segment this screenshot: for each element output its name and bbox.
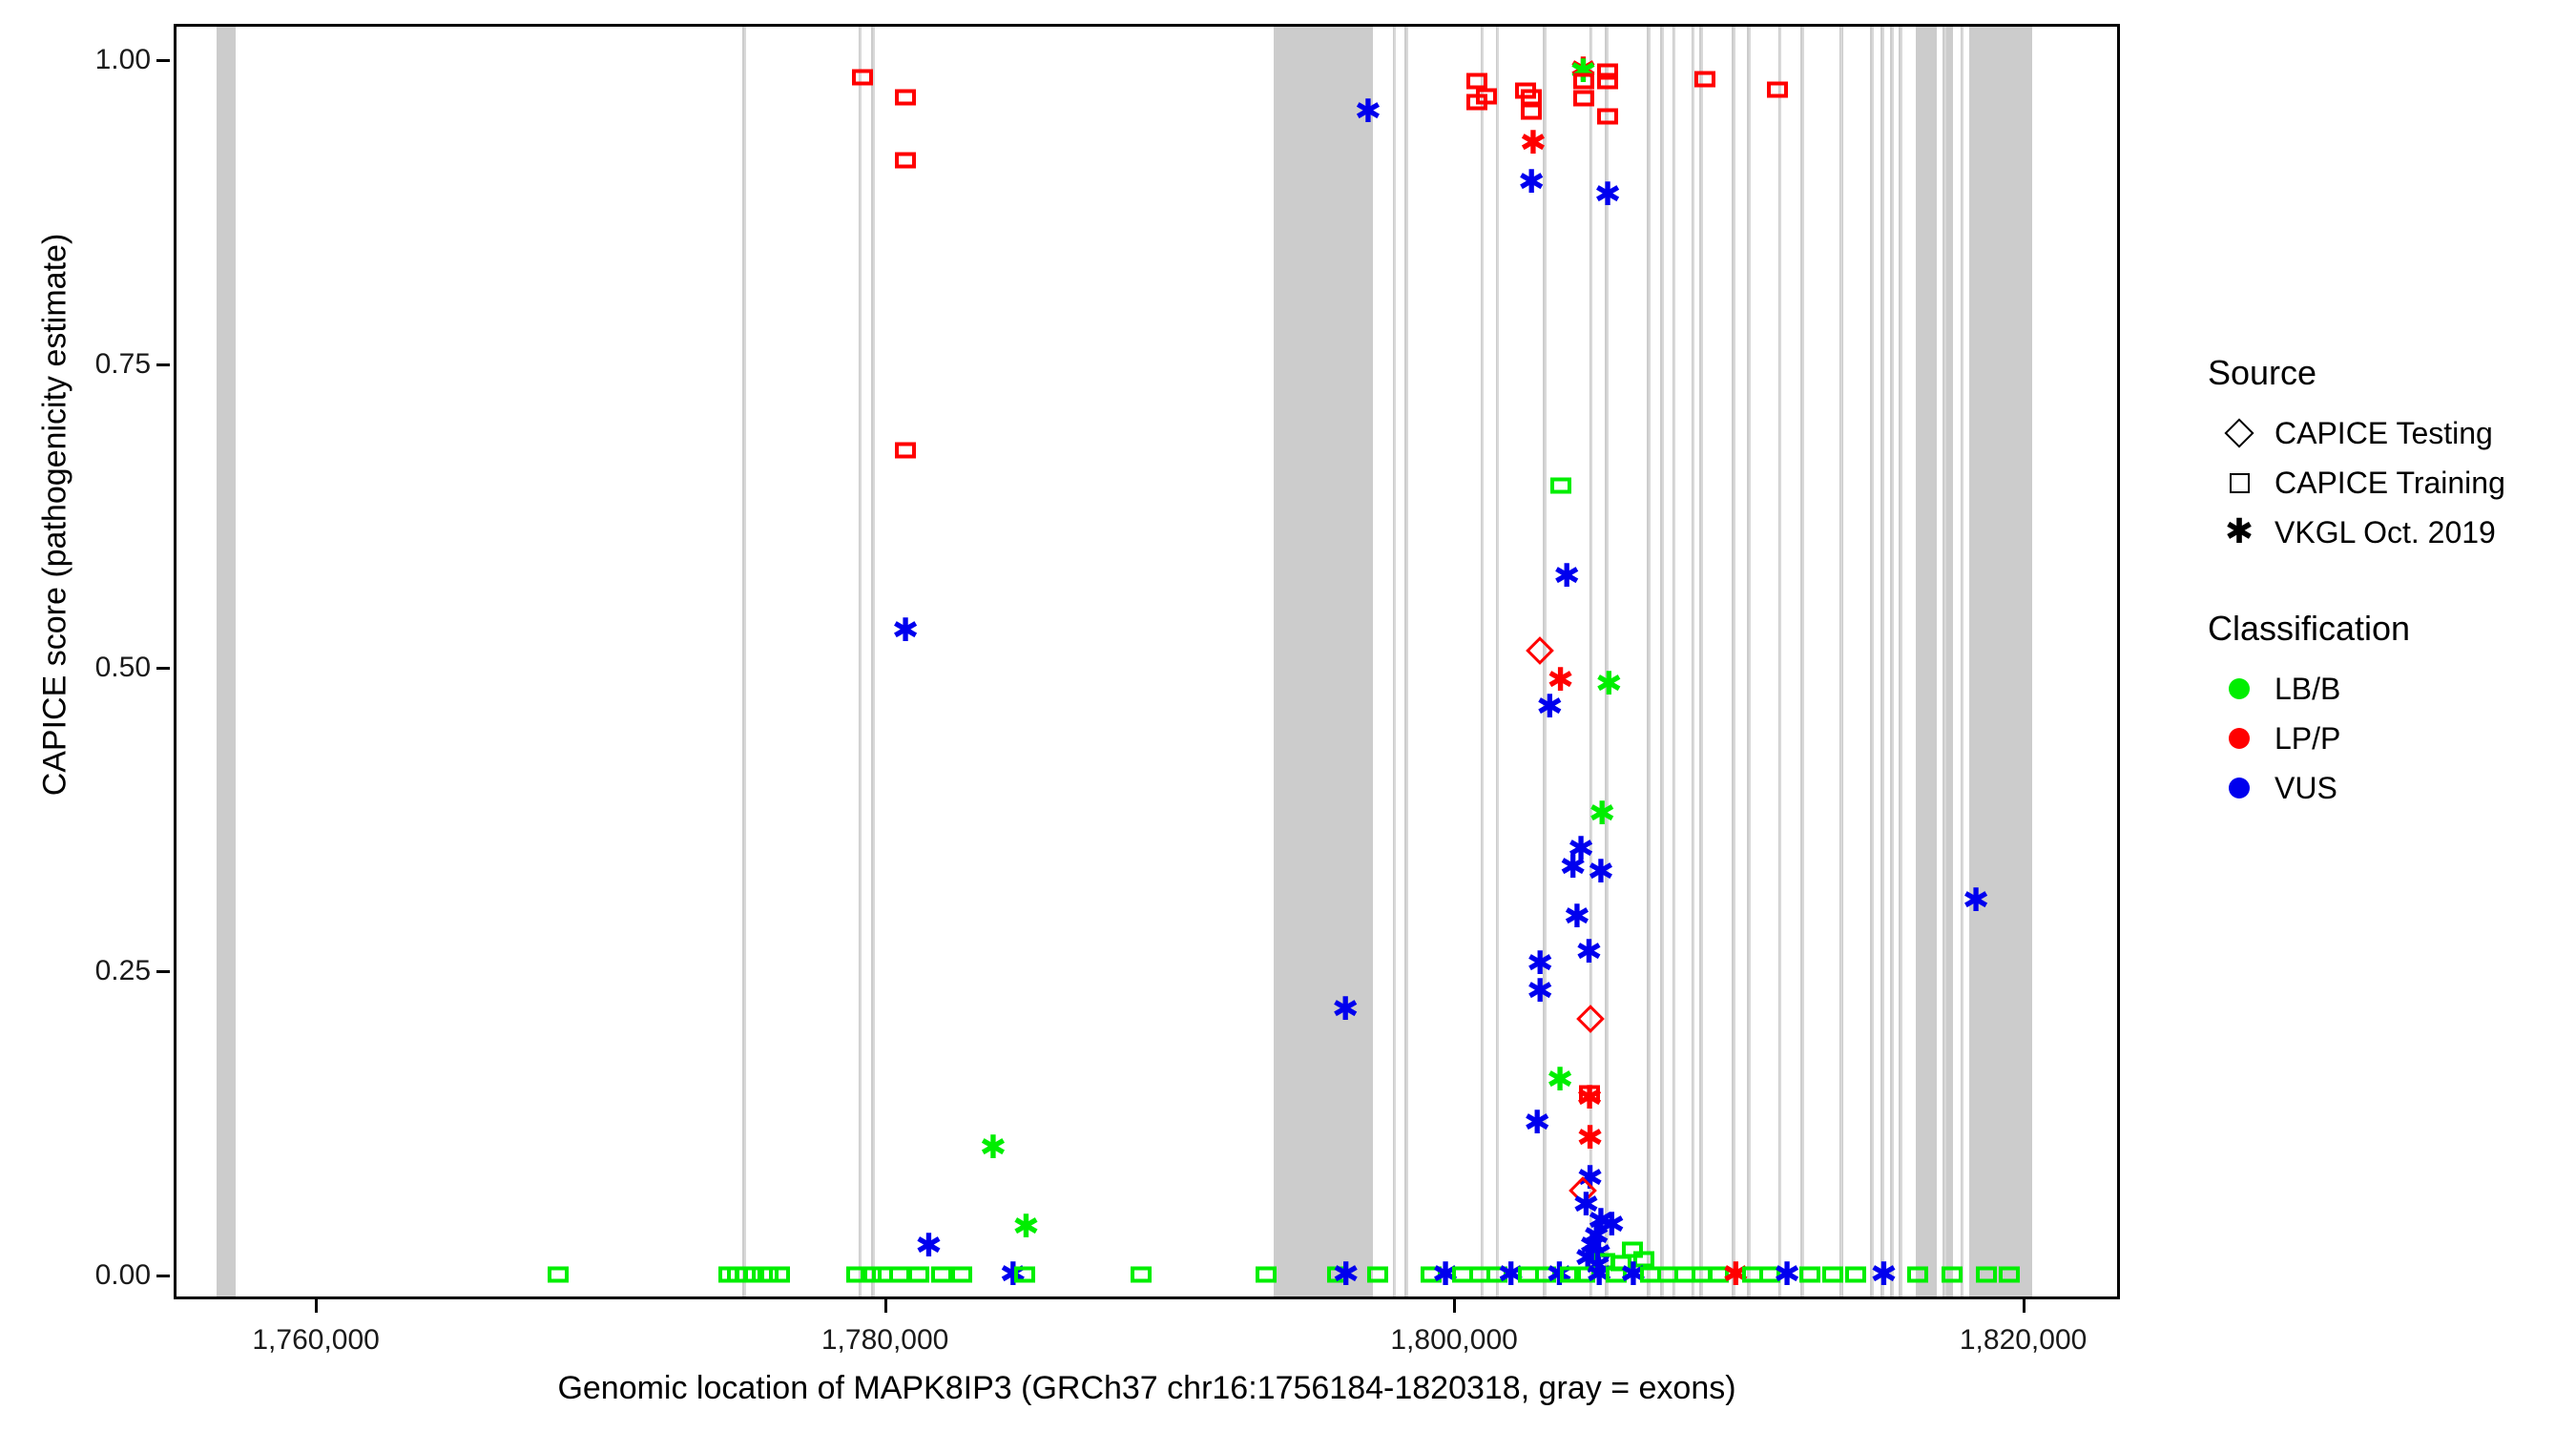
scatter-point <box>1515 83 1536 99</box>
scatter-point <box>889 1266 910 1282</box>
scatter-point <box>1708 1266 1729 1282</box>
scatter-point: ✱ <box>997 1258 1029 1291</box>
scatter-point <box>931 1266 952 1282</box>
legend-spacer <box>2204 557 2566 609</box>
asterisk-marker-icon: ✱ <box>2225 515 2254 550</box>
scatter-point <box>1568 1176 1597 1205</box>
scatter-point: ✱ <box>1574 1162 1607 1194</box>
scatter-point <box>1622 1242 1643 1258</box>
scatter-point: ✱ <box>1517 127 1549 159</box>
scatter-point <box>1999 1266 2020 1282</box>
legend-item-label: LP/P <box>2275 721 2340 757</box>
y-axis-tick <box>156 59 170 62</box>
diamond-marker-icon <box>2224 418 2254 447</box>
legend-item-label: CAPICE Testing <box>2275 416 2493 451</box>
legend-source-title: Source <box>2208 353 2566 393</box>
scatter-point: ✱ <box>1573 1082 1606 1114</box>
scatter-point: ✱ <box>1515 166 1548 198</box>
scatter-point <box>846 1266 867 1282</box>
scatter-point: ✱ <box>1543 1258 1575 1291</box>
x-axis-tick <box>1453 1299 1456 1313</box>
scatter-point <box>1367 1266 1388 1282</box>
legend-item-source[interactable]: CAPICE Testing <box>2204 408 2566 458</box>
scatter-point <box>1574 1266 1595 1282</box>
scatter-point: ✱ <box>1592 668 1625 700</box>
x-axis-label: Genomic location of MAPK8IP3 (GRCh37 chr… <box>174 1370 2120 1407</box>
scatter-point: ✱ <box>1586 798 1618 830</box>
scatter-point <box>1521 104 1542 120</box>
scatter-point <box>861 1266 882 1282</box>
legend-item-source[interactable]: ✱VKGL Oct. 2019 <box>2204 508 2566 557</box>
scatter-point <box>1131 1266 1152 1282</box>
scatter-point <box>1597 64 1618 80</box>
legend-classification-items: LB/BLP/PVUS <box>2204 664 2566 813</box>
scatter-point: ✱ <box>1583 1237 1615 1270</box>
scatter-point <box>1526 637 1554 666</box>
legend-key <box>2204 458 2275 508</box>
scatter-point: ✱ <box>1544 1064 1576 1096</box>
scatter-point: ✱ <box>1771 1258 1803 1291</box>
legend-key <box>2204 408 2275 458</box>
x-axis-tick-label: 1,780,000 <box>771 1324 1000 1357</box>
scatter-point: ✱ <box>1595 1209 1628 1241</box>
scatter-point <box>1573 91 1594 107</box>
scatter-point <box>1606 1266 1627 1282</box>
scatter-point: ✱ <box>1570 1189 1603 1221</box>
scatter-point: ✱ <box>1524 947 1556 980</box>
scatter-point: ✱ <box>1580 1220 1612 1253</box>
scatter-point: ✱ <box>1550 560 1583 592</box>
scatter-point <box>1597 73 1618 90</box>
x-axis-tick-label: 1,760,000 <box>201 1324 430 1357</box>
scatter-point: ✱ <box>1495 1258 1527 1291</box>
x-axis-tick <box>884 1299 887 1313</box>
scatter-point <box>548 1266 569 1282</box>
legend-item-source[interactable]: CAPICE Training <box>2204 458 2566 508</box>
scatter-point: ✱ <box>1585 1205 1617 1237</box>
scatter-point: ✱ <box>1329 993 1361 1026</box>
scatter-point <box>1674 1266 1695 1282</box>
scatter-point <box>1633 1252 1654 1268</box>
scatter-point <box>1476 88 1497 104</box>
square-marker-icon <box>2230 473 2250 493</box>
y-axis-tick <box>156 363 170 366</box>
scatter-point <box>1256 1266 1277 1282</box>
scatter-point <box>1799 1266 1820 1282</box>
scatter-point <box>1767 82 1788 98</box>
scatter-point <box>1466 73 1487 90</box>
scatter-point <box>895 443 916 459</box>
scatter-point <box>743 1266 764 1282</box>
scatter-point <box>1521 89 1542 105</box>
scatter-point <box>895 89 916 105</box>
scatter-point: ✱ <box>1581 1250 1613 1282</box>
x-axis-tick-label: 1,800,000 <box>1340 1324 1568 1357</box>
legend-key <box>2204 763 2275 813</box>
scatter-point: ✱ <box>1719 1258 1752 1291</box>
y-axis-tick-label: 0.00 <box>17 1259 151 1292</box>
scatter-point: ✱ <box>1524 975 1556 1007</box>
scatter-point: ✱ <box>1867 1258 1900 1291</box>
legend-key: ✱ <box>2204 508 2275 557</box>
legend-key <box>2204 714 2275 763</box>
scatter-point <box>1550 478 1571 494</box>
x-axis-tick <box>315 1299 318 1313</box>
scatter-point <box>895 153 916 169</box>
scatter-point <box>1657 1266 1678 1282</box>
scatter-point <box>1822 1266 1843 1282</box>
scatter-point: ✱ <box>1561 901 1593 933</box>
scatter-point <box>1327 1266 1348 1282</box>
scatter-point: ✱ <box>1330 1258 1362 1291</box>
scatter-point <box>718 1266 739 1282</box>
legend-source-items: CAPICE TestingCAPICE Training✱VKGL Oct. … <box>2204 408 2566 557</box>
scatter-point <box>1759 1266 1780 1282</box>
color-dot-icon <box>2229 678 2250 699</box>
y-axis-tick-label: 0.25 <box>17 955 151 987</box>
scatter-point <box>1742 1266 1763 1282</box>
scatter-point <box>769 1266 790 1282</box>
scatter-point <box>908 1266 929 1282</box>
scatter-point <box>1942 1266 1963 1282</box>
scatter-point <box>1845 1266 1866 1282</box>
scatter-point: ✱ <box>913 1230 945 1262</box>
plot-panel: ✱✱✱✱✱✱✱✱✱✱✱✱✱✱✱✱✱✱✱✱✱✱✱✱✱✱✱✱✱✱✱✱✱✱✱✱✱✱✱✱… <box>174 24 2120 1299</box>
scatter-point: ✱ <box>1585 856 1617 888</box>
scatter-point <box>1452 1266 1473 1282</box>
scatter-point: ✱ <box>1960 884 1992 917</box>
scatter-point <box>1610 1255 1631 1272</box>
scatter-point <box>1692 1266 1713 1282</box>
scatter-point: ✱ <box>1591 178 1624 211</box>
y-axis-tick-label: 1.00 <box>17 44 151 76</box>
scatter-point <box>1486 1266 1507 1282</box>
scatter-point: ✱ <box>977 1131 1009 1164</box>
scatter-point: ✱ <box>1545 664 1577 696</box>
scatter-point <box>872 1266 893 1282</box>
y-axis-label: CAPICE score (pathogenicity estimate) <box>37 124 74 906</box>
scatter-point <box>1576 1005 1605 1033</box>
scatter-point <box>758 1266 779 1282</box>
chart-root: ✱✱✱✱✱✱✱✱✱✱✱✱✱✱✱✱✱✱✱✱✱✱✱✱✱✱✱✱✱✱✱✱✱✱✱✱✱✱✱✱… <box>0 0 2576 1431</box>
color-dot-icon <box>2229 778 2250 798</box>
x-axis-tick <box>2023 1299 2025 1313</box>
scatter-point: ✱ <box>1572 936 1605 968</box>
y-axis-tick <box>156 667 170 670</box>
scatter-point <box>1579 1085 1600 1101</box>
scatter-point <box>1594 1253 1615 1269</box>
scatter-point <box>1466 93 1487 110</box>
scatter-point: ✱ <box>1352 95 1384 128</box>
scatter-point <box>951 1266 972 1282</box>
legend-item-classification[interactable]: VUS <box>2204 763 2566 813</box>
y-axis-tick <box>156 970 170 973</box>
scatter-point: ✱ <box>1429 1258 1462 1291</box>
legend-item-label: VUS <box>2275 771 2337 806</box>
scatter-point: ✱ <box>1574 1122 1607 1154</box>
scatter-point <box>1976 1266 1997 1282</box>
legend-source-group: Source CAPICE TestingCAPICE Training✱VKG… <box>2204 353 2566 557</box>
legend-item-label: LB/B <box>2275 672 2340 707</box>
legend-classification-title: Classification <box>2208 609 2566 649</box>
scatter-point <box>1597 109 1618 125</box>
scatter-point <box>1014 1266 1035 1282</box>
scatter-point: ✱ <box>1557 851 1589 883</box>
legend-classification-group: Classification LB/BLP/PVUS <box>2204 609 2566 813</box>
scatter-point: ✱ <box>1617 1258 1650 1291</box>
scatter-point: ✱ <box>1571 1242 1604 1275</box>
scatter-point: ✱ <box>1568 55 1600 88</box>
scatter-point: ✱ <box>1568 53 1600 86</box>
scatter-point: ✱ <box>1010 1211 1043 1243</box>
scatter-point <box>1421 1266 1442 1282</box>
scatter-point <box>1535 1266 1556 1282</box>
color-dot-icon <box>2229 728 2250 749</box>
scatter-points-layer: ✱✱✱✱✱✱✱✱✱✱✱✱✱✱✱✱✱✱✱✱✱✱✱✱✱✱✱✱✱✱✱✱✱✱✱✱✱✱✱✱… <box>177 27 2117 1296</box>
y-axis-tick <box>156 1275 170 1277</box>
scatter-point <box>852 70 873 86</box>
legend-item-classification[interactable]: LB/B <box>2204 664 2566 714</box>
scatter-point <box>1469 1266 1490 1282</box>
legend-item-label: VKGL Oct. 2019 <box>2275 515 2496 550</box>
legend-key <box>2204 664 2275 714</box>
scatter-point <box>1518 1266 1539 1282</box>
scatter-point <box>1573 73 1594 90</box>
scatter-point <box>735 1266 756 1282</box>
legend-item-label: CAPICE Training <box>2275 466 2505 501</box>
legend: Source CAPICE TestingCAPICE Training✱VKG… <box>2204 353 2566 813</box>
scatter-point: ✱ <box>1565 833 1597 865</box>
scatter-point: ✱ <box>1576 1230 1609 1262</box>
scatter-point <box>727 1266 748 1282</box>
x-axis-tick-label: 1,820,000 <box>1909 1324 2138 1357</box>
scatter-point: ✱ <box>1521 1107 1553 1139</box>
scatter-point <box>1907 1266 1928 1282</box>
scatter-point <box>1560 1266 1581 1282</box>
scatter-point: ✱ <box>889 614 922 647</box>
scatter-point: ✱ <box>1583 1258 1615 1291</box>
legend-item-classification[interactable]: LP/P <box>2204 714 2566 763</box>
scatter-point: ✱ <box>1533 691 1566 723</box>
scatter-point <box>1694 71 1715 87</box>
scatter-point <box>1640 1266 1661 1282</box>
